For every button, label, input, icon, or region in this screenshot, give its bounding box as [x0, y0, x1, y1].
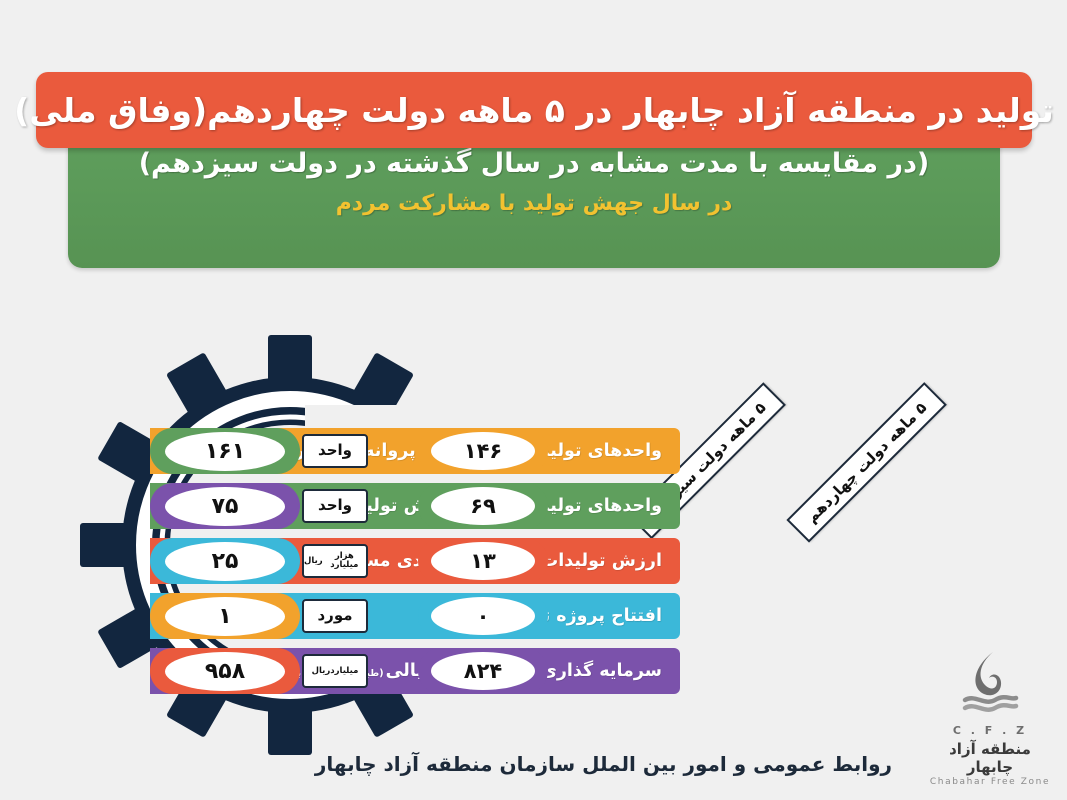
title-banner: تولید در منطقه آزاد چابهار در ۵ ماهه دول… — [36, 72, 1032, 148]
unit-box: واحد — [302, 489, 368, 523]
unit-box: واحد — [302, 434, 368, 468]
previous-value: ۸۲۴ — [431, 652, 535, 690]
value-group: ۱۶۱واحد۱۴۶ — [150, 428, 550, 474]
table-row: واحدهای تولیدی دارای گزارش تولید۷۵واحد۶۹ — [150, 483, 940, 529]
logo-name-en: Chabahar Free Zone — [927, 777, 1053, 787]
current-value-capsule: ۱ — [150, 593, 300, 639]
value-group: ۷۵واحد۶۹ — [150, 483, 550, 529]
current-value-capsule: ۲۵ — [150, 538, 300, 584]
previous-value: ۱۳ — [431, 542, 535, 580]
logo-cfz-text: C . F . Z — [927, 724, 1053, 737]
current-value: ۱۶۱ — [165, 432, 285, 471]
current-value-capsule: ۹۵۸ — [150, 648, 300, 694]
current-value: ۱ — [165, 597, 285, 636]
value-group: ۱مورد۰ — [150, 593, 550, 639]
logo: C . F . Z منطقه آزاد چابهار Chabahar Fre… — [927, 648, 1053, 788]
previous-value: ۱۴۶ — [431, 432, 535, 470]
page-title: تولید در منطقه آزاد چابهار در ۵ ماهه دول… — [14, 91, 1054, 130]
unit-box: میلیاردریال — [302, 654, 368, 688]
current-value: ۲۵ — [165, 542, 285, 581]
footer: روابط عمومی و امور بین الملل سازمان منطق… — [0, 752, 1067, 776]
previous-value-capsule: ۰ — [418, 593, 548, 639]
previous-value: ۰ — [431, 597, 535, 635]
subtitle-banner: (در مقایسه با مدت مشابه در سال گذشته در … — [68, 128, 1000, 268]
table-row: ارزش تولیدات واحدهای تولیدی مستقر در منط… — [150, 538, 940, 584]
table-row: واحدهای تولیدی فعال دارای پروانه بهره بر… — [150, 428, 940, 474]
table-row: سرمایه گذاری محقق شده ریالی(طبق پروانه ه… — [150, 648, 940, 694]
value-group: ۲۵هزار میلیاردریال۱۳ — [150, 538, 550, 584]
value-group: ۹۵۸میلیاردریال۸۲۴ — [150, 648, 550, 694]
previous-value-capsule: ۶۹ — [418, 483, 548, 529]
previous-value-capsule: ۱۳ — [418, 538, 548, 584]
cfz-emblem-icon — [959, 648, 1021, 722]
unit-box: هزار میلیاردریال — [302, 544, 368, 578]
current-value: ۹۵۸ — [165, 652, 285, 691]
footer-label: روابط عمومی و امور بین الملل سازمان منطق… — [175, 752, 892, 776]
subtitle-secondary: در سال جهش تولید با مشارکت مردم — [336, 191, 733, 216]
table-row: افتتاح پروژه تولیدی۱مورد۰ — [150, 593, 940, 639]
previous-value: ۶۹ — [431, 487, 535, 525]
subtitle-primary: (در مقایسه با مدت مشابه در سال گذشته در … — [139, 148, 930, 179]
current-value-capsule: ۷۵ — [150, 483, 300, 529]
logo-name-fa: منطقه آزاد چابهار — [927, 740, 1053, 776]
data-rows: واحدهای تولیدی فعال دارای پروانه بهره بر… — [150, 428, 940, 703]
current-value: ۷۵ — [165, 487, 285, 526]
unit-box: مورد — [302, 599, 368, 633]
infographic-page: (در مقایسه با مدت مشابه در سال گذشته در … — [0, 0, 1067, 800]
current-value-capsule: ۱۶۱ — [150, 428, 300, 474]
previous-value-capsule: ۱۴۶ — [418, 428, 548, 474]
previous-value-capsule: ۸۲۴ — [418, 648, 548, 694]
